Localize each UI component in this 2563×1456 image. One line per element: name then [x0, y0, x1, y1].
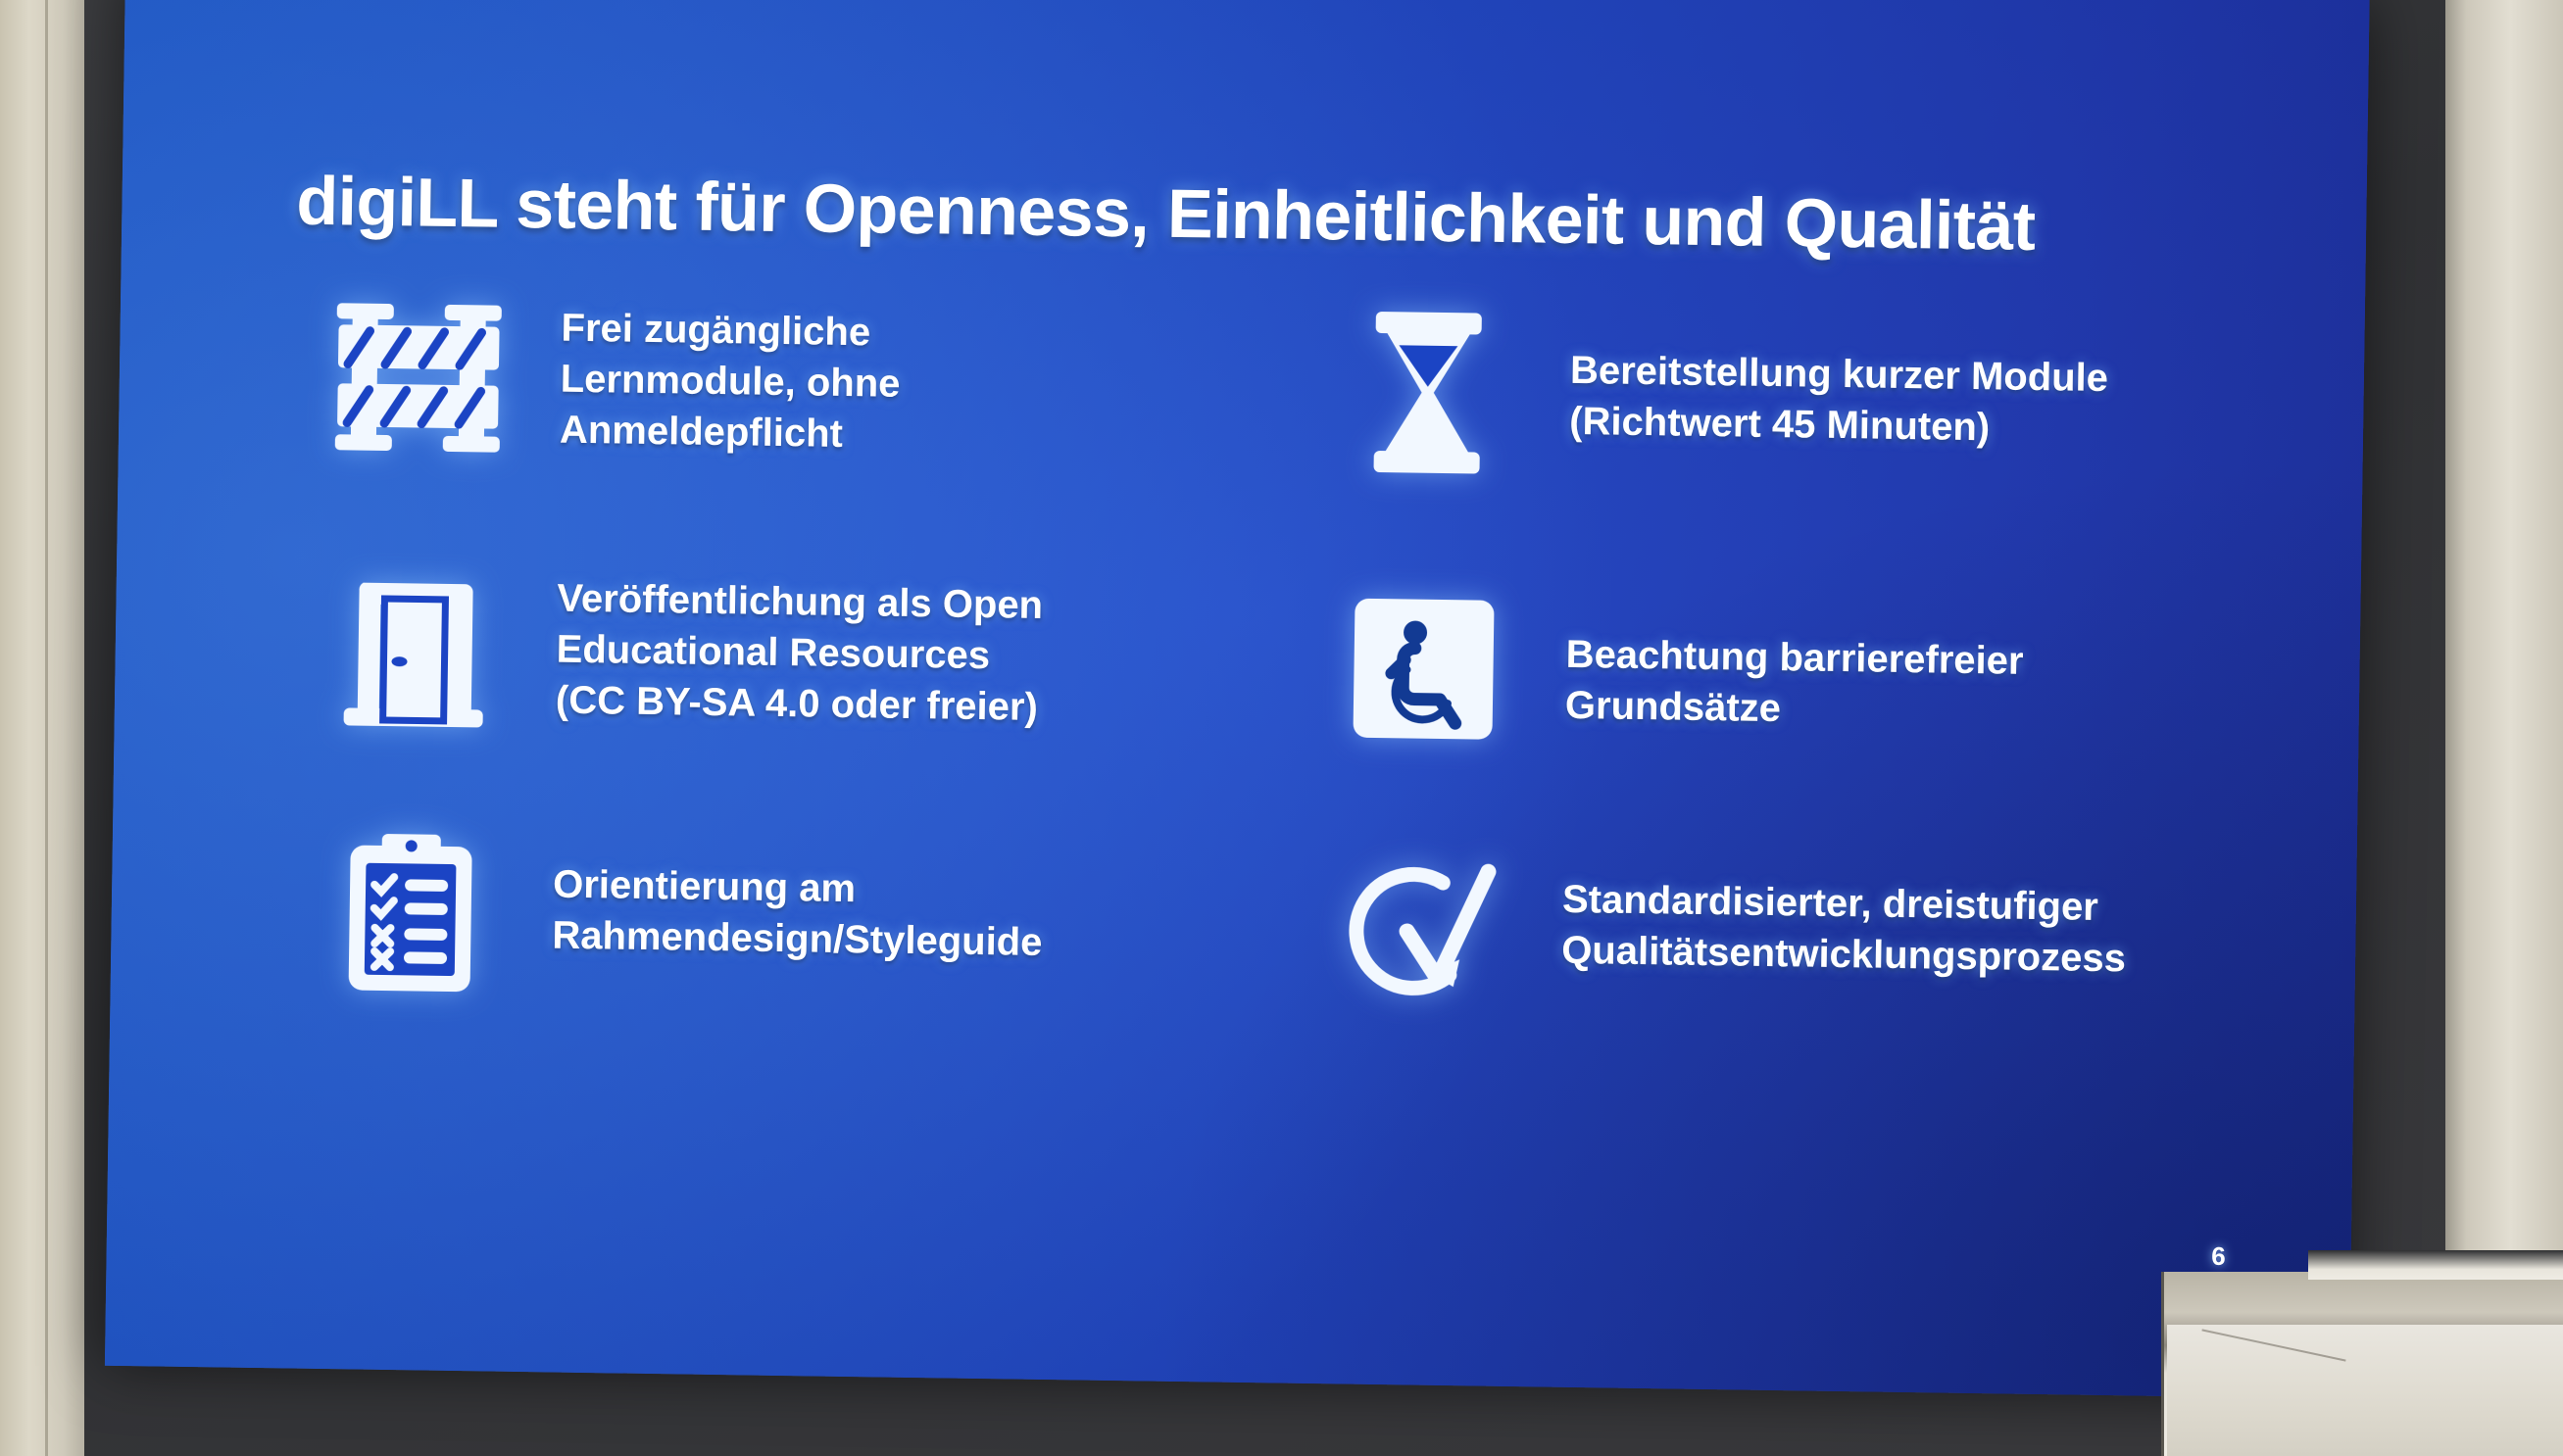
list-item-line: Rahmendesign/Styleguide	[552, 910, 1043, 968]
list-item-line: Grundsätze	[1565, 680, 2024, 738]
wall-right	[2445, 0, 2563, 1456]
list-item-line: Educational Resources	[556, 624, 1042, 682]
projection-screen: digiLL steht für Openness, Einheitlichke…	[105, 0, 2370, 1399]
flipchart-top-edge	[2308, 1250, 2563, 1280]
list-item-line: Beachtung barrierefreier	[1565, 629, 2024, 687]
hourglass-icon	[1284, 308, 1570, 478]
list-item-text: Veröffentlichung als Open Educational Re…	[556, 573, 1044, 733]
list-item-line: (CC BY-SA 4.0 oder freier)	[556, 675, 1042, 733]
photo-scene: digiLL steht für Openness, Einheitlichke…	[0, 0, 2563, 1456]
list-item-text: Beachtung barrierefreier Grundsätze	[1565, 588, 2025, 738]
list-item-text: Frei zugängliche Lernmodule, ohne Anmeld…	[560, 297, 902, 461]
right-column: Bereitstellung kurzer Module (Richtwert …	[1287, 308, 2336, 323]
list-item-line: Lernmodule, ohne	[560, 354, 900, 410]
list-item-line: Veröffentlichung als Open	[557, 573, 1043, 631]
list-item: Frei zugängliche Lernmodule, ohne Anmeld…	[275, 292, 1306, 474]
list-item-line: Frei zugängliche	[561, 303, 901, 359]
list-item-line: Anmeldepflicht	[560, 405, 900, 461]
wall-left	[0, 0, 84, 1456]
open-door-icon	[271, 568, 557, 739]
list-item-text: Orientierung am Rahmendesign/Styleguide	[552, 832, 1044, 968]
list-item-line: Bereitstellung kurzer Module	[1570, 345, 2109, 404]
list-item-line: (Richtwert 45 Minuten)	[1569, 396, 2108, 455]
list-item-text: Standardisierter, dreistufiger Qualitäts…	[1561, 847, 2128, 985]
slide-content: digiLL steht für Openness, Einheitlichke…	[105, 0, 2370, 1399]
wheelchair-accessibility-icon	[1280, 584, 1566, 754]
clipboard-checklist-icon	[267, 827, 553, 997]
left-column: Frei zugängliche Lernmodule, ohne Anmeld…	[277, 292, 1326, 308]
flipchart-foreground	[2161, 1250, 2563, 1456]
list-item-text: Bereitstellung kurzer Module (Richtwert …	[1569, 312, 2109, 455]
list-item-line: Orientierung am	[553, 859, 1044, 917]
list-item: Standardisierter, dreistufiger Qualitäts…	[1276, 843, 2307, 1025]
list-item: Veröffentlichung als Open Educational Re…	[271, 568, 1302, 751]
flipchart-paper	[2167, 1325, 2563, 1456]
slide-title: digiLL steht für Openness, Einheitlichke…	[296, 162, 2257, 269]
list-item: Bereitstellung kurzer Module (Richtwert …	[1284, 308, 2315, 490]
list-item: Orientierung am Rahmendesign/Styleguide	[267, 827, 1298, 1009]
list-item-line: Standardisierter, dreistufiger	[1562, 874, 2127, 934]
construction-barrier-icon	[275, 292, 562, 462]
check-cycle-icon	[1276, 843, 1562, 1013]
bullet-columns: Frei zugängliche Lernmodule, ohne Anmeld…	[121, 290, 2365, 323]
list-item: Beachtung barrierefreier Grundsätze	[1280, 584, 2311, 766]
list-item-line: Qualitätsentwicklungsprozess	[1561, 925, 2126, 985]
